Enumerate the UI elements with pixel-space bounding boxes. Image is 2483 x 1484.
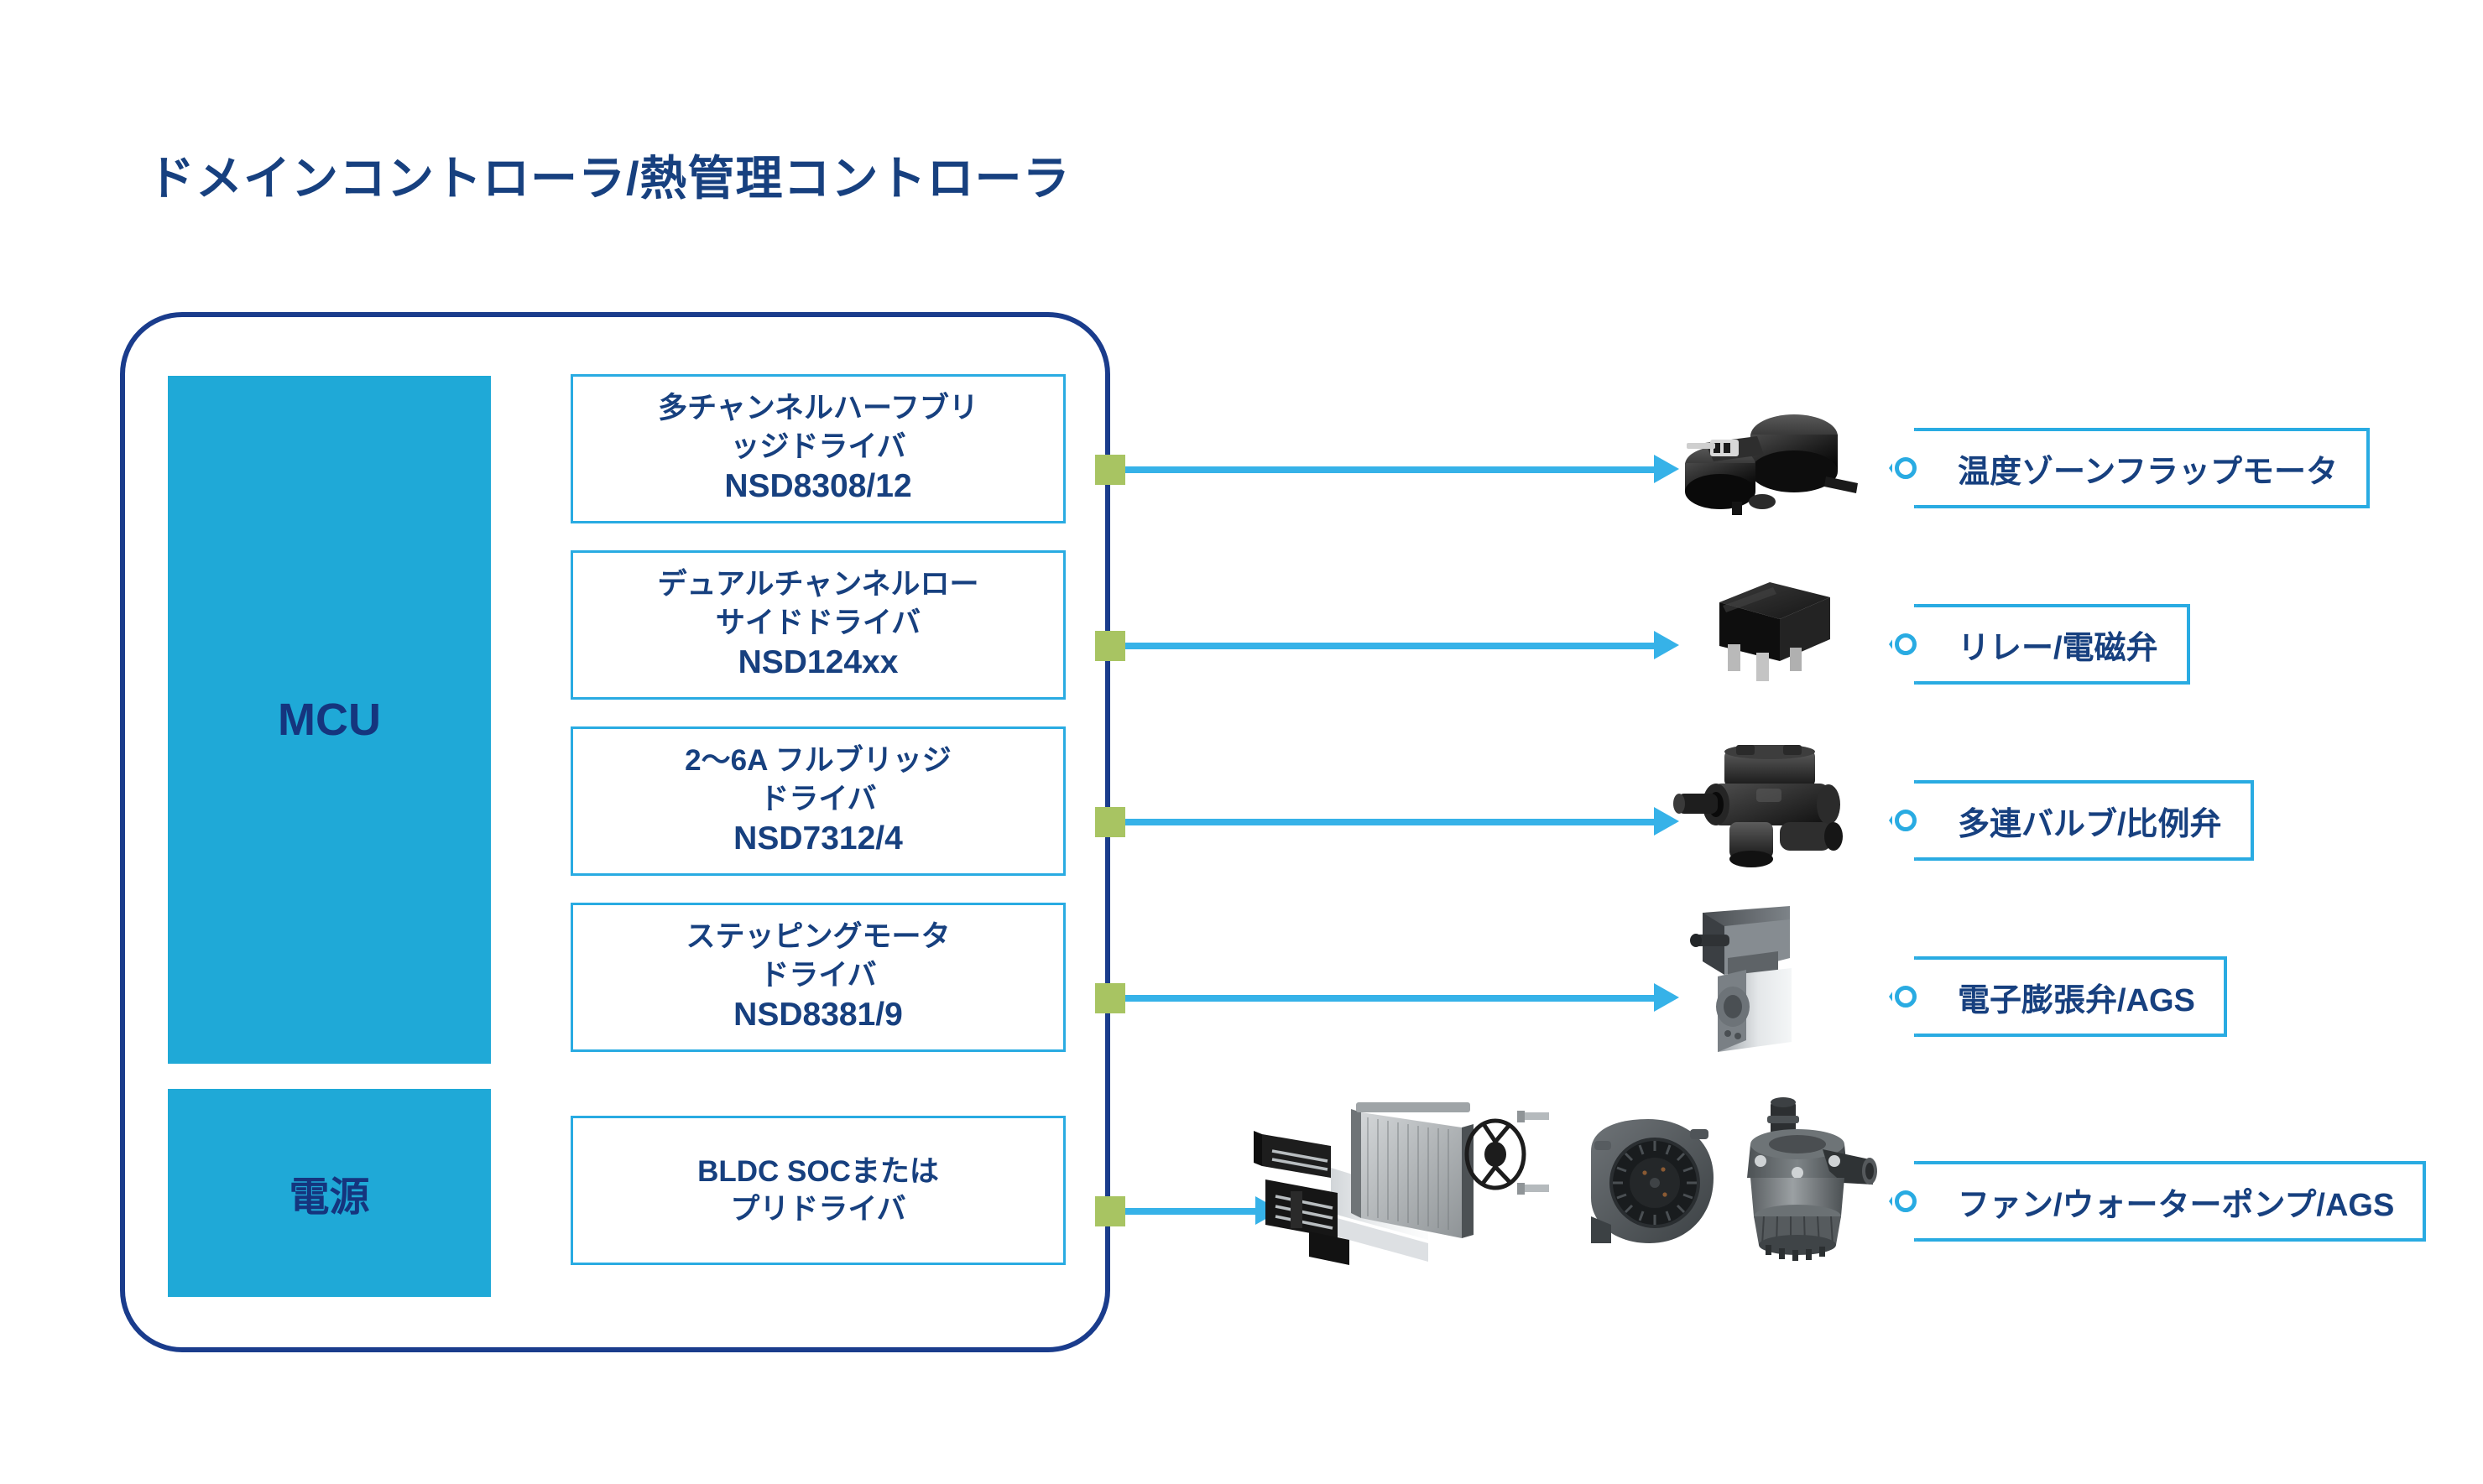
callout-fan-waterpump-ags[interactable]: ファン/ウォーターポンプ/AGS (1895, 1161, 2426, 1242)
product-image-electronic-expansion-valve (1666, 906, 1842, 1057)
callout-label: 温度ゾーンフラップモータ (1958, 445, 2338, 492)
driver-line1: 多チャンネルハーフブリ (658, 389, 978, 428)
driver-part-code: NSD124xx (738, 642, 899, 685)
connector-row-4 (1095, 973, 1679, 1023)
callout-tag: 電子膨張弁/AGS (1914, 956, 2227, 1037)
callout-knob-icon (1895, 1190, 1917, 1212)
driver-box-multichannel-halfbridge[interactable]: 多チャンネルハーフブリ ッジドライバ NSD8308/12 (571, 374, 1066, 523)
driver-line1: 2〜6A フルブリッジ (685, 742, 952, 780)
product-image-hvac-flap-motor-actuator (1670, 403, 1880, 520)
block-mcu[interactable]: MCU (168, 376, 491, 1064)
arrow-right-icon (1125, 642, 1679, 650)
block-power[interactable]: 電源 (168, 1089, 491, 1297)
driver-box-stepper-motor[interactable]: ステッピングモータ ドライバ NSD8381/9 (571, 903, 1066, 1052)
driver-line2: ドライバ (759, 780, 876, 819)
driver-line2: ドライバ (759, 956, 876, 995)
driver-line1: BLDC SOCまたは (697, 1153, 939, 1191)
callout-label: 多連バルブ/比例弁 (1958, 798, 2222, 844)
callout-relay-solenoid-valve[interactable]: リレー/電磁弁 (1895, 604, 2190, 685)
connector-port-square (1095, 455, 1125, 485)
driver-part-code: NSD7312/4 (733, 818, 903, 861)
product-image-automotive-relay-cube (1708, 577, 1842, 685)
driver-part-code: NSD8308/12 (724, 466, 911, 508)
connector-port-square (1095, 807, 1125, 837)
callout-temperature-zone-flap-motor[interactable]: 温度ゾーンフラップモータ (1895, 428, 2370, 508)
product-image-multi-port-coolant-valve (1666, 745, 1875, 871)
driver-box-dualchannel-lowside[interactable]: デュアルチャンネルロー サイドドライバ NSD124xx (571, 550, 1066, 700)
callout-knob-icon (1895, 633, 1917, 655)
product-image-radiator-hvac-module (1250, 1091, 1569, 1284)
page-title: ドメインコントローラ/熱管理コントローラ (148, 141, 1071, 209)
connector-port-square (1095, 631, 1125, 661)
callout-knob-icon (1895, 457, 1917, 479)
callout-electronic-expansion-valve-ags[interactable]: 電子膨張弁/AGS (1895, 956, 2227, 1037)
driver-box-fullbridge[interactable]: 2〜6A フルブリッジ ドライバ NSD7312/4 (571, 726, 1066, 876)
driver-line1: ステッピングモータ (686, 918, 950, 956)
arrow-right-icon (1125, 818, 1679, 826)
connector-port-square (1095, 1196, 1125, 1226)
driver-line2: プリドライバ (730, 1190, 905, 1229)
callout-tag: 温度ゾーンフラップモータ (1914, 428, 2370, 508)
driver-line1: デュアルチャンネルロー (658, 565, 979, 604)
arrow-right-icon (1125, 466, 1679, 474)
connector-row-3 (1095, 797, 1679, 847)
product-image-blower-fan (1586, 1117, 1720, 1252)
driver-line2: ッジドライバ (730, 428, 905, 466)
callout-tag: 多連バルブ/比例弁 (1914, 780, 2254, 861)
product-image-electric-water-pump (1729, 1097, 1880, 1265)
callout-label: リレー/電磁弁 (1958, 622, 2158, 668)
arrow-right-icon (1125, 994, 1679, 1002)
callout-knob-icon (1895, 810, 1917, 831)
connector-port-square (1095, 983, 1125, 1013)
block-mcu-label: MCU (278, 694, 381, 746)
connector-row-1 (1095, 445, 1679, 495)
driver-box-bldc-soc[interactable]: BLDC SOCまたは プリドライバ (571, 1116, 1066, 1265)
connector-row-2 (1095, 621, 1679, 671)
callout-multi-valve-proportional-valve[interactable]: 多連バルブ/比例弁 (1895, 780, 2254, 861)
driver-line2: サイドドライバ (716, 604, 921, 643)
driver-part-code: NSD8381/9 (733, 994, 903, 1037)
callout-tag: ファン/ウォーターポンプ/AGS (1914, 1161, 2426, 1242)
callout-label: ファン/ウォーターポンプ/AGS (1958, 1179, 2394, 1225)
callout-knob-icon (1895, 986, 1917, 1008)
callout-label: 電子膨張弁/AGS (1958, 974, 2195, 1020)
block-power-label: 電源 (289, 1164, 369, 1222)
callout-tag: リレー/電磁弁 (1914, 604, 2190, 685)
